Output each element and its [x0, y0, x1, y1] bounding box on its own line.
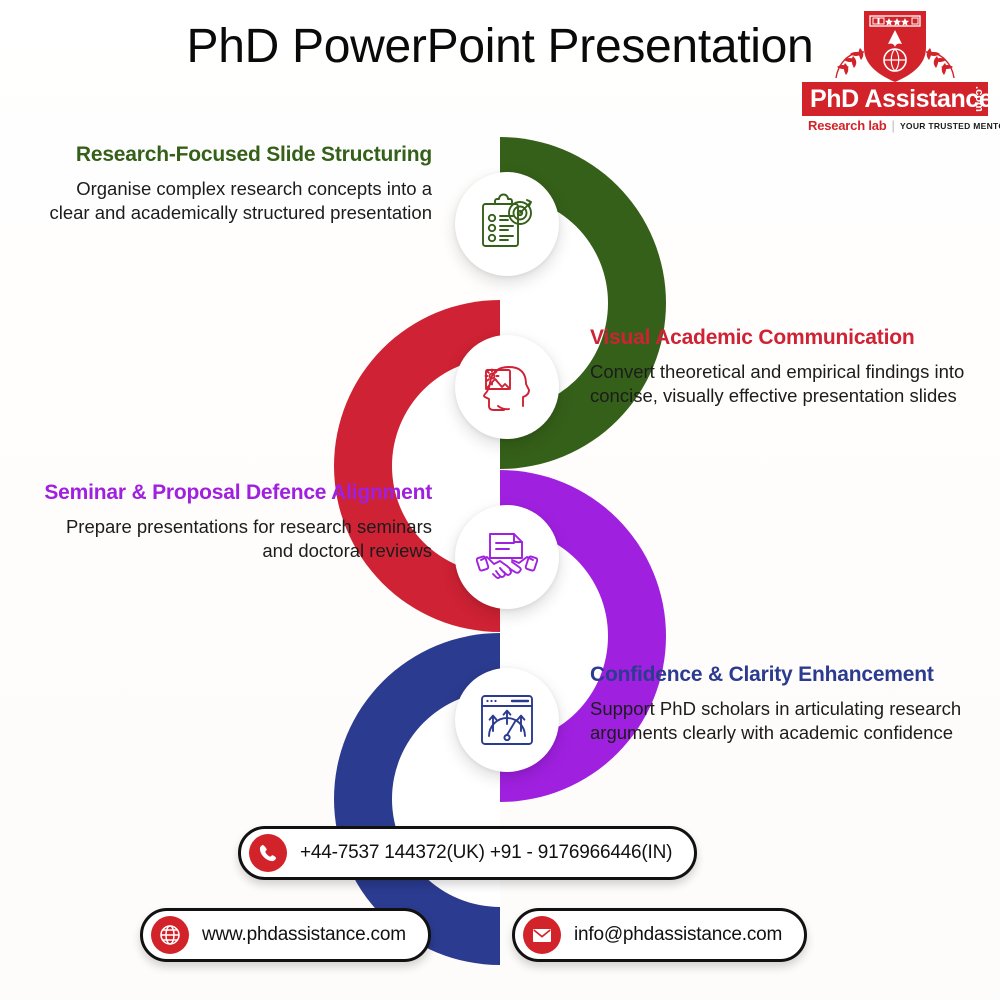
head-profile-image-icon: [476, 356, 538, 418]
handshake-document-icon: [476, 526, 538, 588]
brand-logo[interactable]: PhD Assistance .com Research lab | YOUR …: [802, 8, 988, 138]
logo-tagline: Research lab | YOUR TRUSTED MENTOR: [808, 118, 988, 133]
step-block-1: Research-Focused Slide Structuring Organ…: [40, 142, 432, 226]
step-icon-bubble-3[interactable]: [455, 505, 559, 609]
website-pill[interactable]: www.phdassistance.com: [140, 908, 431, 962]
logo-tagline-mentor: YOUR TRUSTED MENTOR: [900, 121, 1000, 131]
step-icon-bubble-4[interactable]: [455, 668, 559, 772]
step-heading-4: Confidence & Clarity Enhancement: [590, 662, 972, 688]
logo-dotcom-text: .com: [973, 86, 985, 112]
step-body-1: Organise complex research concepts into …: [40, 177, 432, 226]
envelope-icon: [523, 916, 561, 954]
phone-pill[interactable]: +44-7537 144372(UK) +91 - 9176966446(IN): [238, 826, 697, 880]
logo-wordmark: PhD Assistance: [802, 82, 988, 116]
logo-tagline-divider: |: [892, 118, 895, 133]
page-title: PhD PowerPoint Presentation: [180, 20, 820, 74]
email-text: info@phdassistance.com: [574, 924, 782, 946]
email-pill[interactable]: info@phdassistance.com: [512, 908, 807, 962]
logo-wordmark-text: PhD Assistance: [802, 85, 992, 114]
clipboard-checklist-target-icon: [476, 193, 538, 255]
step-heading-2: Visual Academic Communication: [590, 325, 972, 351]
logo-dotcom: .com: [972, 82, 986, 116]
logo-tagline-lab: Research lab: [808, 118, 887, 133]
globe-icon: [151, 916, 189, 954]
infographic-canvas: PhD PowerPoint Presentation: [0, 0, 1000, 1000]
step-block-3: Seminar & Proposal Defence Alignment Pre…: [40, 480, 432, 564]
step-icon-bubble-1[interactable]: [455, 172, 559, 276]
step-icon-bubble-2[interactable]: [455, 335, 559, 439]
step-block-4: Confidence & Clarity Enhancement Support…: [590, 662, 972, 746]
step-body-3: Prepare presentations for research semin…: [40, 515, 432, 564]
phone-text: +44-7537 144372(UK) +91 - 9176966446(IN): [300, 842, 672, 864]
browser-gauge-arrows-icon: [476, 689, 538, 751]
website-text: www.phdassistance.com: [202, 924, 406, 946]
step-heading-1: Research-Focused Slide Structuring: [40, 142, 432, 168]
phone-icon: [249, 834, 287, 872]
step-heading-3: Seminar & Proposal Defence Alignment: [40, 480, 432, 506]
step-body-2: Convert theoretical and empirical findin…: [590, 360, 972, 409]
step-body-4: Support PhD scholars in articulating res…: [590, 697, 972, 746]
step-block-2: Visual Academic Communication Convert th…: [590, 325, 972, 409]
shield-laurel-crest-icon: [834, 8, 956, 86]
